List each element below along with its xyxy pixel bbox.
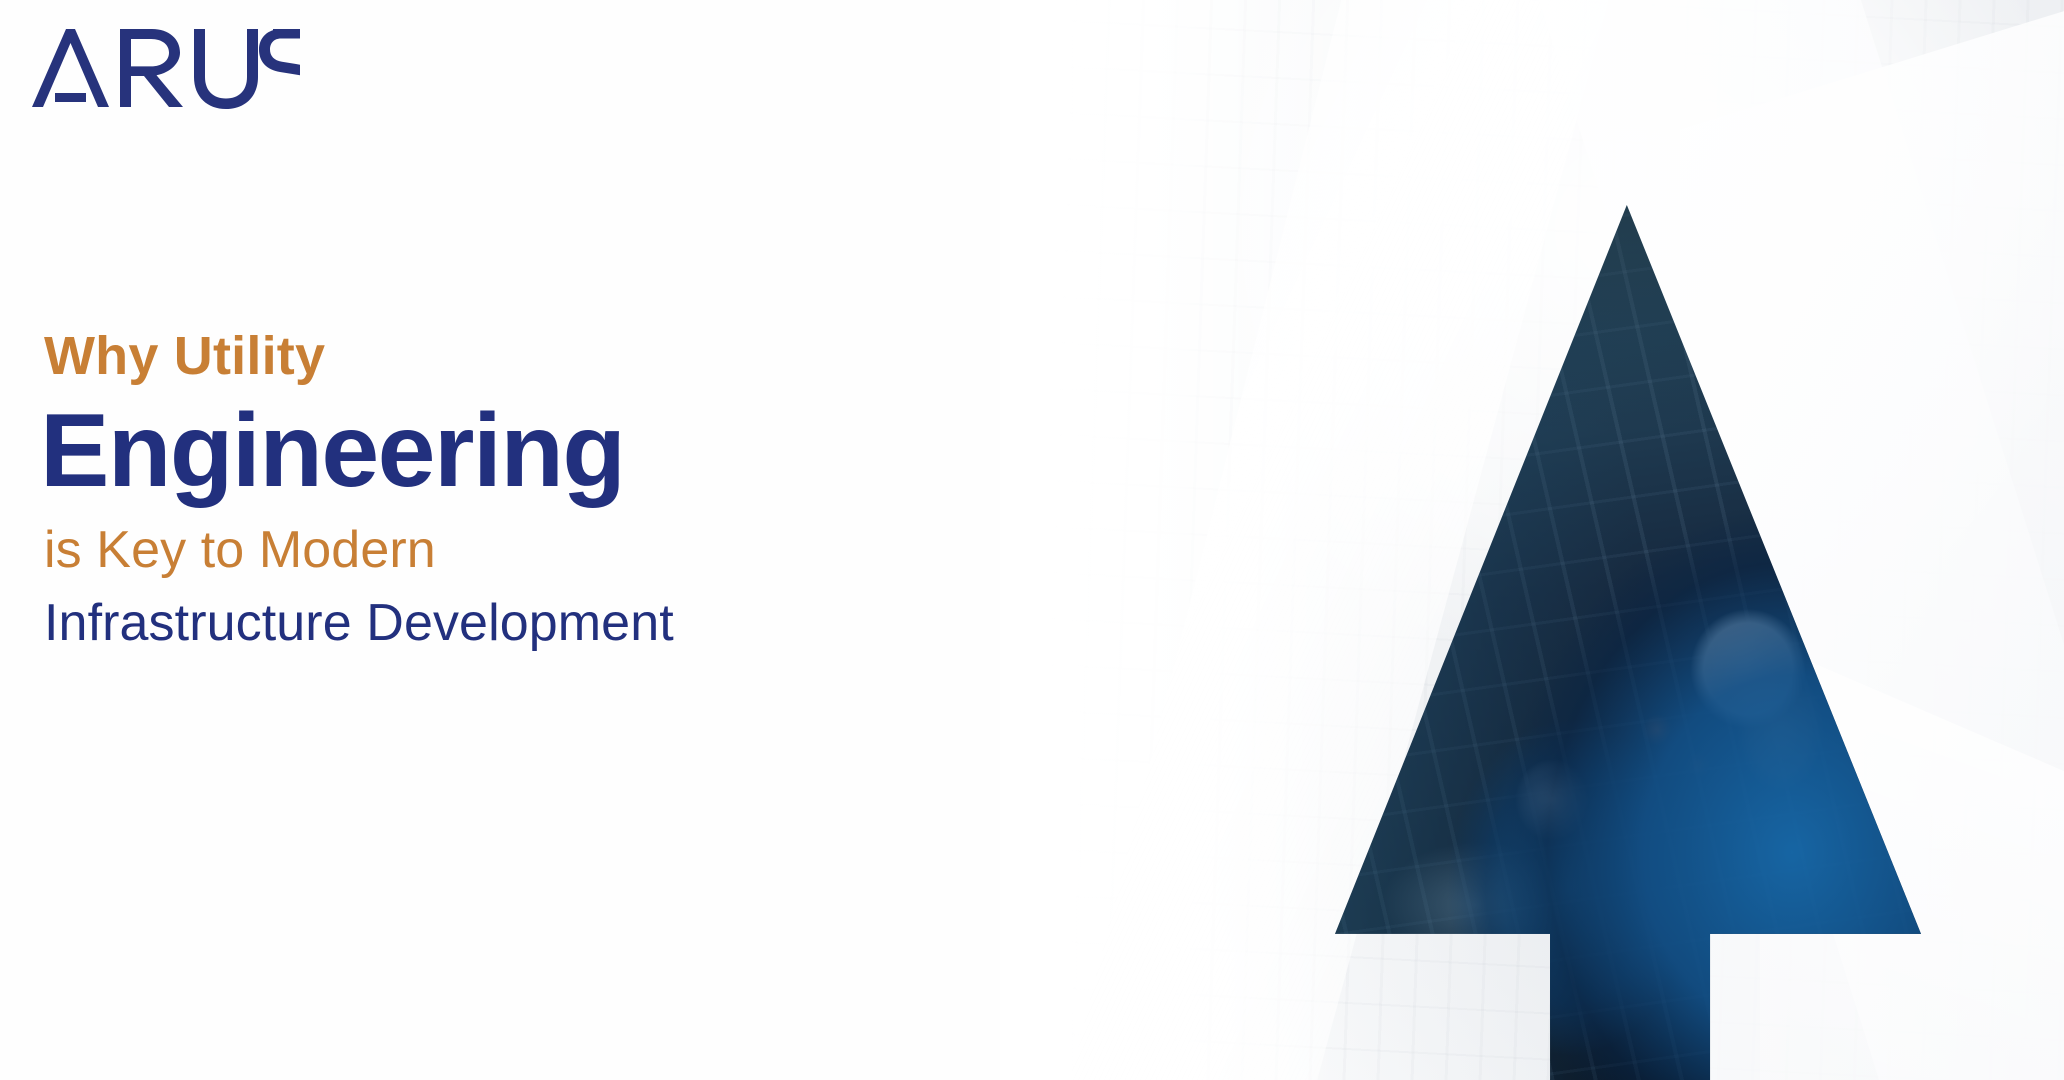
headline-line-1: Why Utility xyxy=(44,325,984,389)
arusi-logo[interactable] xyxy=(32,28,300,110)
headline-block: Why Utility Engineering is Key to Modern… xyxy=(44,325,984,654)
headline-line-4: Infrastructure Development xyxy=(44,592,984,654)
headline-line-2: Engineering xyxy=(40,393,984,509)
headline-line-3: is Key to Modern xyxy=(44,519,984,581)
marketing-banner: Why Utility Engineering is Key to Modern… xyxy=(0,0,2064,1080)
arusi-wordmark-icon xyxy=(32,29,300,109)
